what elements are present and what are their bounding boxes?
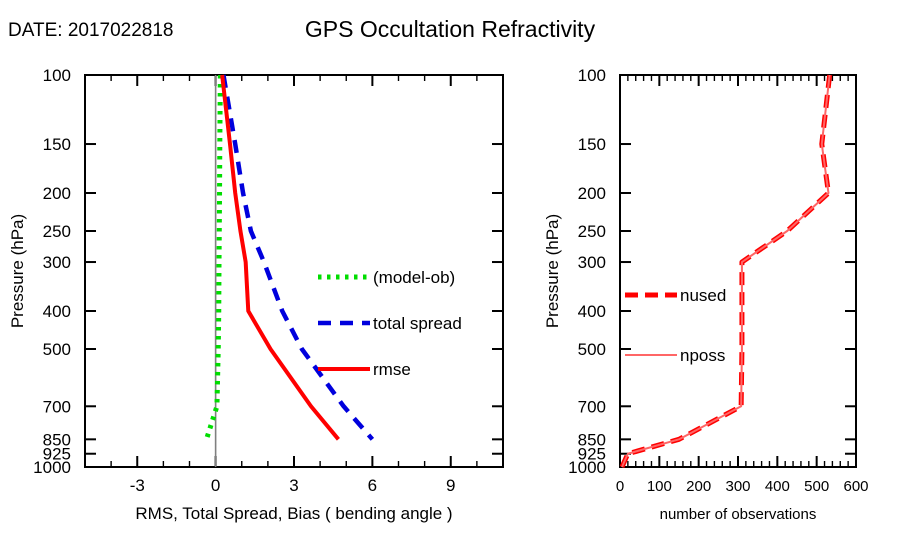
y-tick-label: 150 [43, 135, 71, 154]
y-tick-label: 100 [578, 66, 606, 85]
series-line-rmse [222, 75, 338, 439]
y-tick-label: 300 [43, 253, 71, 272]
x-tick-label: 500 [804, 478, 829, 495]
y-tick-label: 150 [578, 135, 606, 154]
x-tick-label: 0 [616, 478, 624, 495]
y-tick-label: 500 [578, 340, 606, 359]
legend-label-rmse: rmse [373, 360, 411, 379]
y-tick-label: 700 [43, 397, 71, 416]
y-tick-label: 500 [43, 340, 71, 359]
y-tick-label: 250 [43, 222, 71, 241]
x-tick-label: -3 [130, 476, 145, 495]
x-tick-label: 0 [211, 476, 220, 495]
y-tick-label: 100 [43, 66, 71, 85]
y-tick-label: 200 [578, 184, 606, 203]
x-axis-title: RMS, Total Spread, Bias ( bending angle … [135, 504, 452, 523]
legend-label--model-ob-: (model-ob) [373, 268, 455, 287]
series-line-nused [622, 75, 830, 467]
x-tick-label: 6 [368, 476, 377, 495]
y-axis-title: Pressure (hPa) [8, 214, 27, 328]
series-line-nposs [622, 75, 830, 467]
x-tick-label: 9 [446, 476, 455, 495]
y-tick-label: 400 [43, 302, 71, 321]
x-tick-label: 3 [289, 476, 298, 495]
panel-right-panel: 0100200300400500600100150200250300400500… [543, 66, 869, 523]
legend-label-nposs: nposs [680, 346, 725, 365]
y-tick-label: 250 [578, 222, 606, 241]
x-tick-label: 200 [686, 478, 711, 495]
x-tick-label: 400 [765, 478, 790, 495]
figure-root: DATE: 2017022818 GPS Occultation Refract… [0, 0, 900, 560]
x-tick-label: 100 [647, 478, 672, 495]
legend-label-nused: nused [680, 286, 726, 305]
y-tick-label: 200 [43, 184, 71, 203]
series-line--model-ob- [206, 75, 220, 439]
page-title: GPS Occultation Refractivity [0, 16, 900, 43]
legend-label-total-spread: total spread [373, 314, 462, 333]
plots-canvas: -303691001502002503004005007008509251000… [0, 0, 900, 560]
y-tick-label: 700 [578, 397, 606, 416]
panel-left-panel: -303691001502002503004005007008509251000… [8, 66, 503, 523]
y-tick-label: 1000 [33, 458, 71, 477]
y-tick-label: 1000 [568, 458, 606, 477]
y-axis-title: Pressure (hPa) [543, 214, 562, 328]
x-tick-label: 300 [725, 478, 750, 495]
y-tick-label: 300 [578, 253, 606, 272]
x-axis-title: number of observations [660, 506, 817, 523]
x-tick-label: 600 [843, 478, 868, 495]
y-tick-label: 400 [578, 302, 606, 321]
